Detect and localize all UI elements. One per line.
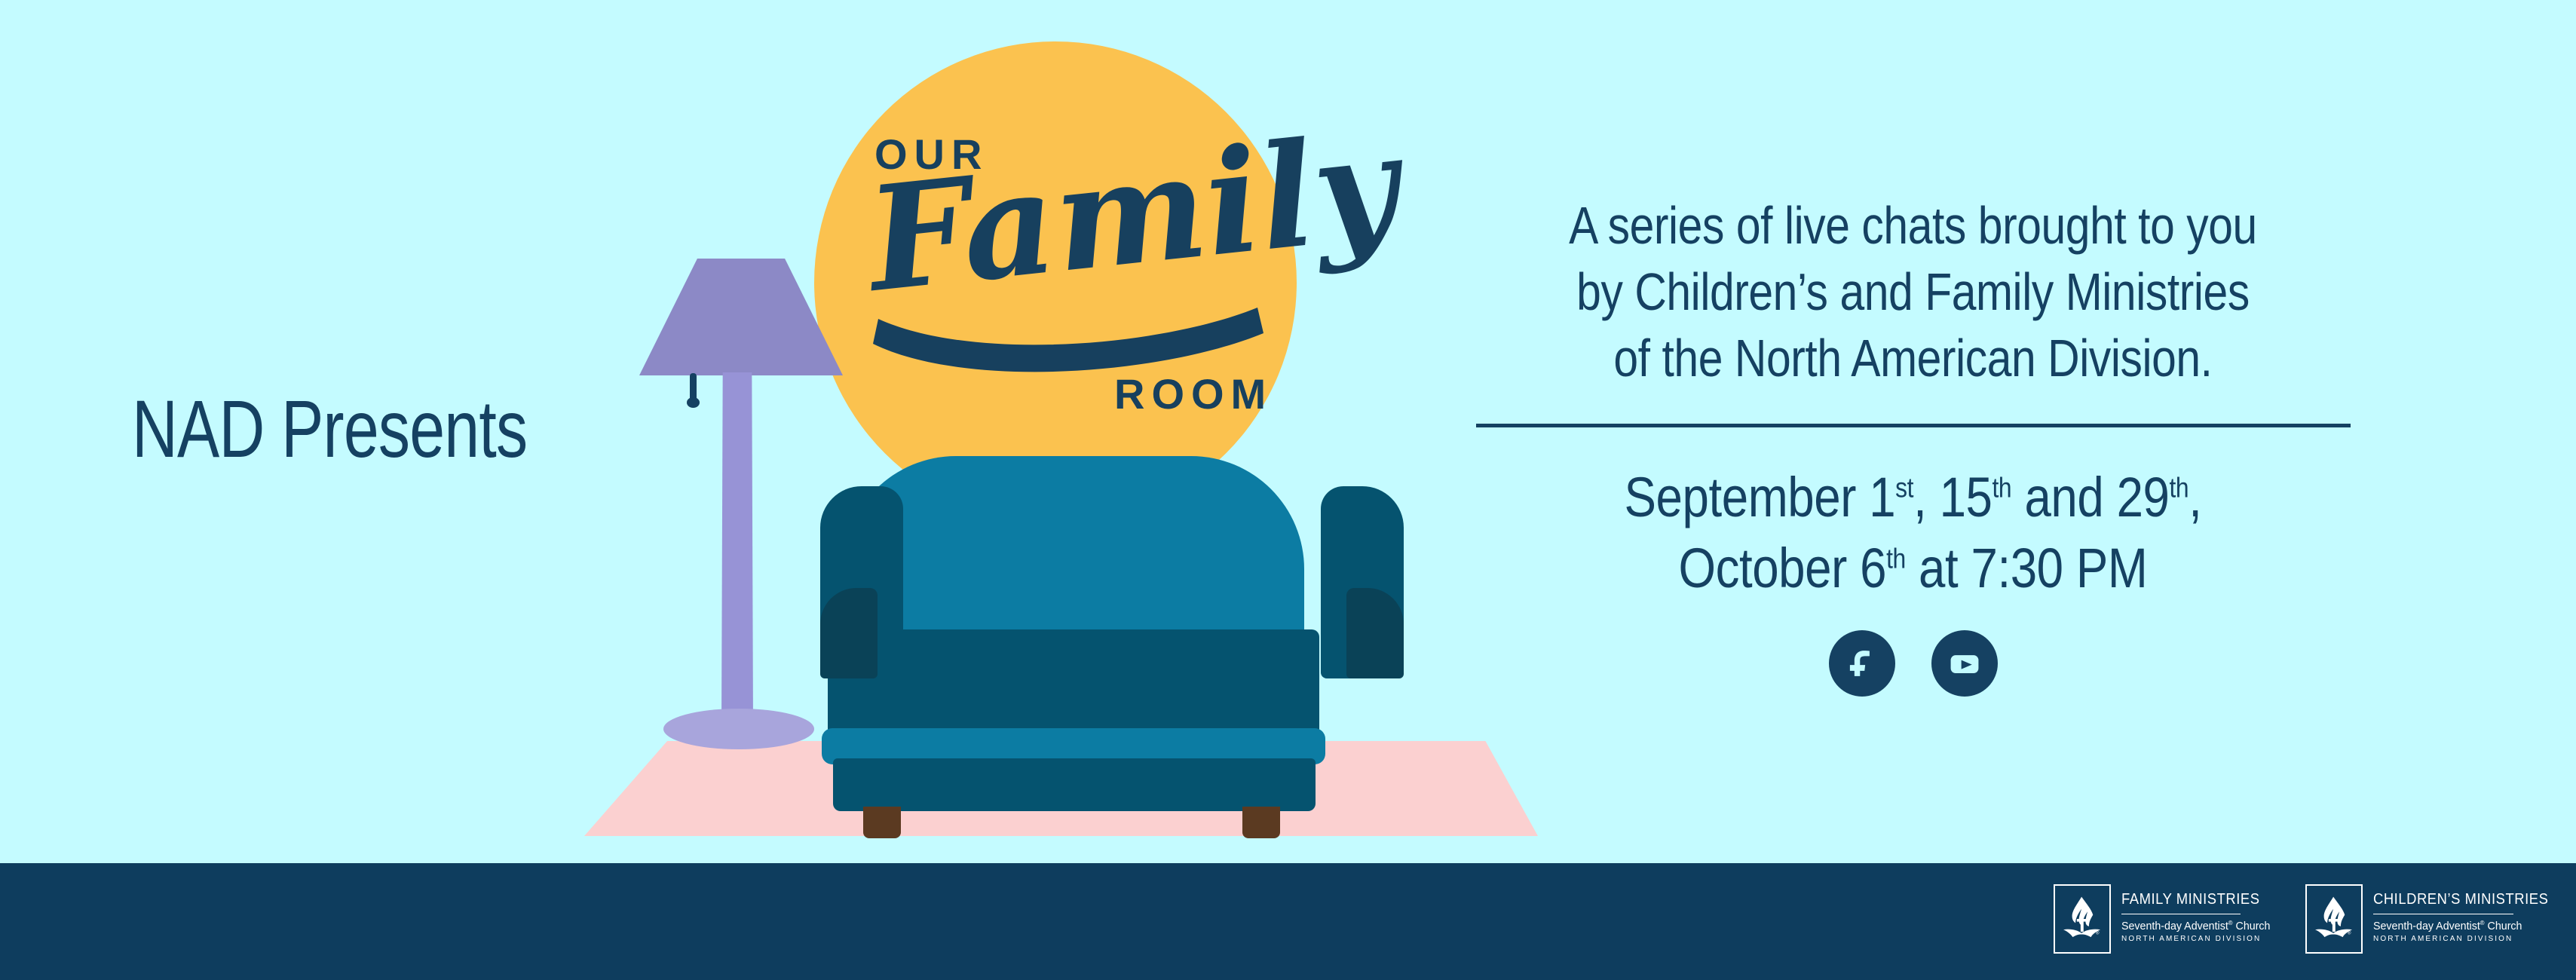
children-church-suffix: Church [2485, 920, 2522, 933]
lamp-shade [639, 259, 843, 375]
yellow-circle-backdrop [814, 41, 1297, 524]
schedule-block: September 1st, 15th and 29th, October 6t… [1474, 462, 2352, 605]
logo-word-room: ROOM [1114, 369, 1273, 418]
children-division-line: NORTH AMERICAN DIVISION [2373, 935, 2564, 943]
adventist-flame-book-icon: ® [2062, 894, 2103, 944]
children-logo-rule [2373, 914, 2513, 914]
schedule-ordinal-2: th [1992, 472, 2012, 503]
description-line-3: of the North American Division. [1544, 325, 2282, 391]
schedule-ordinal-3: th [2170, 472, 2189, 503]
description-line-2: by Children’s and Family Ministries [1544, 259, 2282, 325]
family-division-line: NORTH AMERICAN DIVISION [2121, 935, 2278, 943]
info-column: A series of live chats brought to you by… [1474, 192, 2352, 697]
description-block: A series of live chats brought to you by… [1474, 192, 2352, 392]
lamp-pole [721, 372, 753, 727]
schedule-oct-time: at 7:30 PM [1906, 537, 2148, 599]
schedule-ordinal-1: st [1895, 472, 1913, 503]
schedule-sep-date-mid: , 15 [1913, 466, 1992, 528]
schedule-line-1: September 1st, 15th and 29th, [1536, 462, 2291, 534]
family-ministries-wordmark: FAMILY MINISTRIES Seventh-day Adventist®… [2121, 884, 2278, 943]
family-ministries-title: FAMILY MINISTRIES [2121, 891, 2265, 908]
description-line-1: A series of live chats brought to you [1544, 192, 2282, 259]
youtube-icon [1945, 644, 1984, 683]
facebook-link[interactable] [1829, 630, 1895, 697]
adventist-logomark-box-family: ® [2054, 884, 2111, 954]
schedule-sep-date-suffix: , [2189, 466, 2201, 528]
footer-bar: ® FAMILY MINISTRIES Seventh-day Adventis… [0, 863, 2576, 980]
armchair-arm-inner-left [820, 588, 878, 678]
schedule-ordinal-4: th [1886, 544, 1906, 574]
armchair-leg-left [863, 807, 901, 838]
living-room-illustration: OUR Family ROOM [0, 0, 1583, 867]
youtube-link[interactable] [1931, 630, 1998, 697]
children-church-line: Seventh-day Adventist® Church [2373, 920, 2554, 933]
schedule-line-2: October 6th at 7:30 PM [1536, 533, 2291, 605]
armchair-seat [828, 629, 1319, 739]
family-logo-rule [2121, 914, 2241, 914]
schedule-sep-date-and: and 29 [2011, 466, 2169, 528]
children-church-name: Seventh-day Adventist [2373, 920, 2480, 933]
promotional-banner: NAD Presents OUR Family ROOM [0, 0, 2576, 980]
childrens-ministries-wordmark: CHILDREN’S MINISTRIES Seventh-day Advent… [2373, 884, 2564, 943]
family-church-name: Seventh-day Adventist [2121, 920, 2228, 933]
social-links [1474, 630, 2352, 697]
logo-word-our: OUR [874, 130, 988, 179]
schedule-sep-date-prefix: September 1 [1625, 466, 1896, 528]
family-church-suffix: Church [2233, 920, 2271, 933]
horizontal-divider [1476, 424, 2351, 427]
family-ministries-logo: ® FAMILY MINISTRIES Seventh-day Adventis… [2054, 884, 2278, 954]
svg-text:®: ® [2348, 931, 2351, 936]
schedule-oct-date-prefix: October 6 [1679, 537, 1887, 599]
facebook-icon [1842, 644, 1882, 683]
svg-text:®: ® [2096, 931, 2100, 936]
lamp-pull-chain-knob [687, 397, 700, 408]
childrens-ministries-logo: ® CHILDREN’S MINISTRIES Seventh-day Adve… [2305, 884, 2564, 954]
adventist-flame-book-icon: ® [2314, 894, 2354, 944]
family-church-line: Seventh-day Adventist® Church [2121, 920, 2270, 933]
adventist-logomark-box-children: ® [2305, 884, 2363, 954]
armchair-leg-right [1242, 807, 1280, 838]
armchair-base [833, 758, 1316, 811]
childrens-ministries-title: CHILDREN’S MINISTRIES [2373, 891, 2548, 908]
armchair-arm-inner-right [1346, 588, 1404, 678]
lamp-base [663, 709, 814, 749]
